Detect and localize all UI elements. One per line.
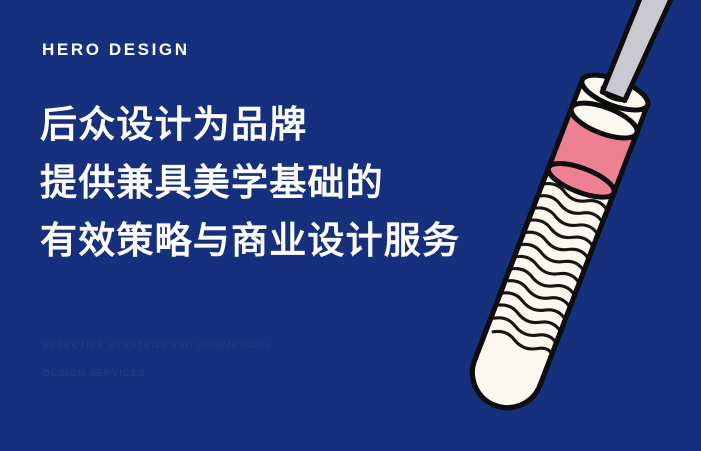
blade <box>602 0 701 105</box>
collar <box>567 68 652 145</box>
pink-band <box>544 108 637 204</box>
headline-line-3: 有效策略与商业设计服务 <box>40 212 510 270</box>
subcaption-block: EFFECTIVE STRATEGY AND COMMERCIAL DESIGN… <box>43 332 373 388</box>
subcaption-line-2: DESIGN SERVICES <box>43 360 373 388</box>
headline-block: 后众设计为品牌 提供兼具美学基础的 有效策略与商业设计服务 <box>40 96 510 270</box>
subcaption-line-1: EFFECTIVE STRATEGY AND COMMERCIAL <box>43 332 373 360</box>
brand-wordmark: HERO DESIGN <box>42 41 190 58</box>
poster-canvas: HERO DESIGN 后众设计为品牌 提供兼具美学基础的 有效策略与商业设计服… <box>0 0 701 451</box>
headline-line-2: 提供兼具美学基础的 <box>40 154 510 212</box>
headline-line-1: 后众设计为品牌 <box>40 96 510 154</box>
